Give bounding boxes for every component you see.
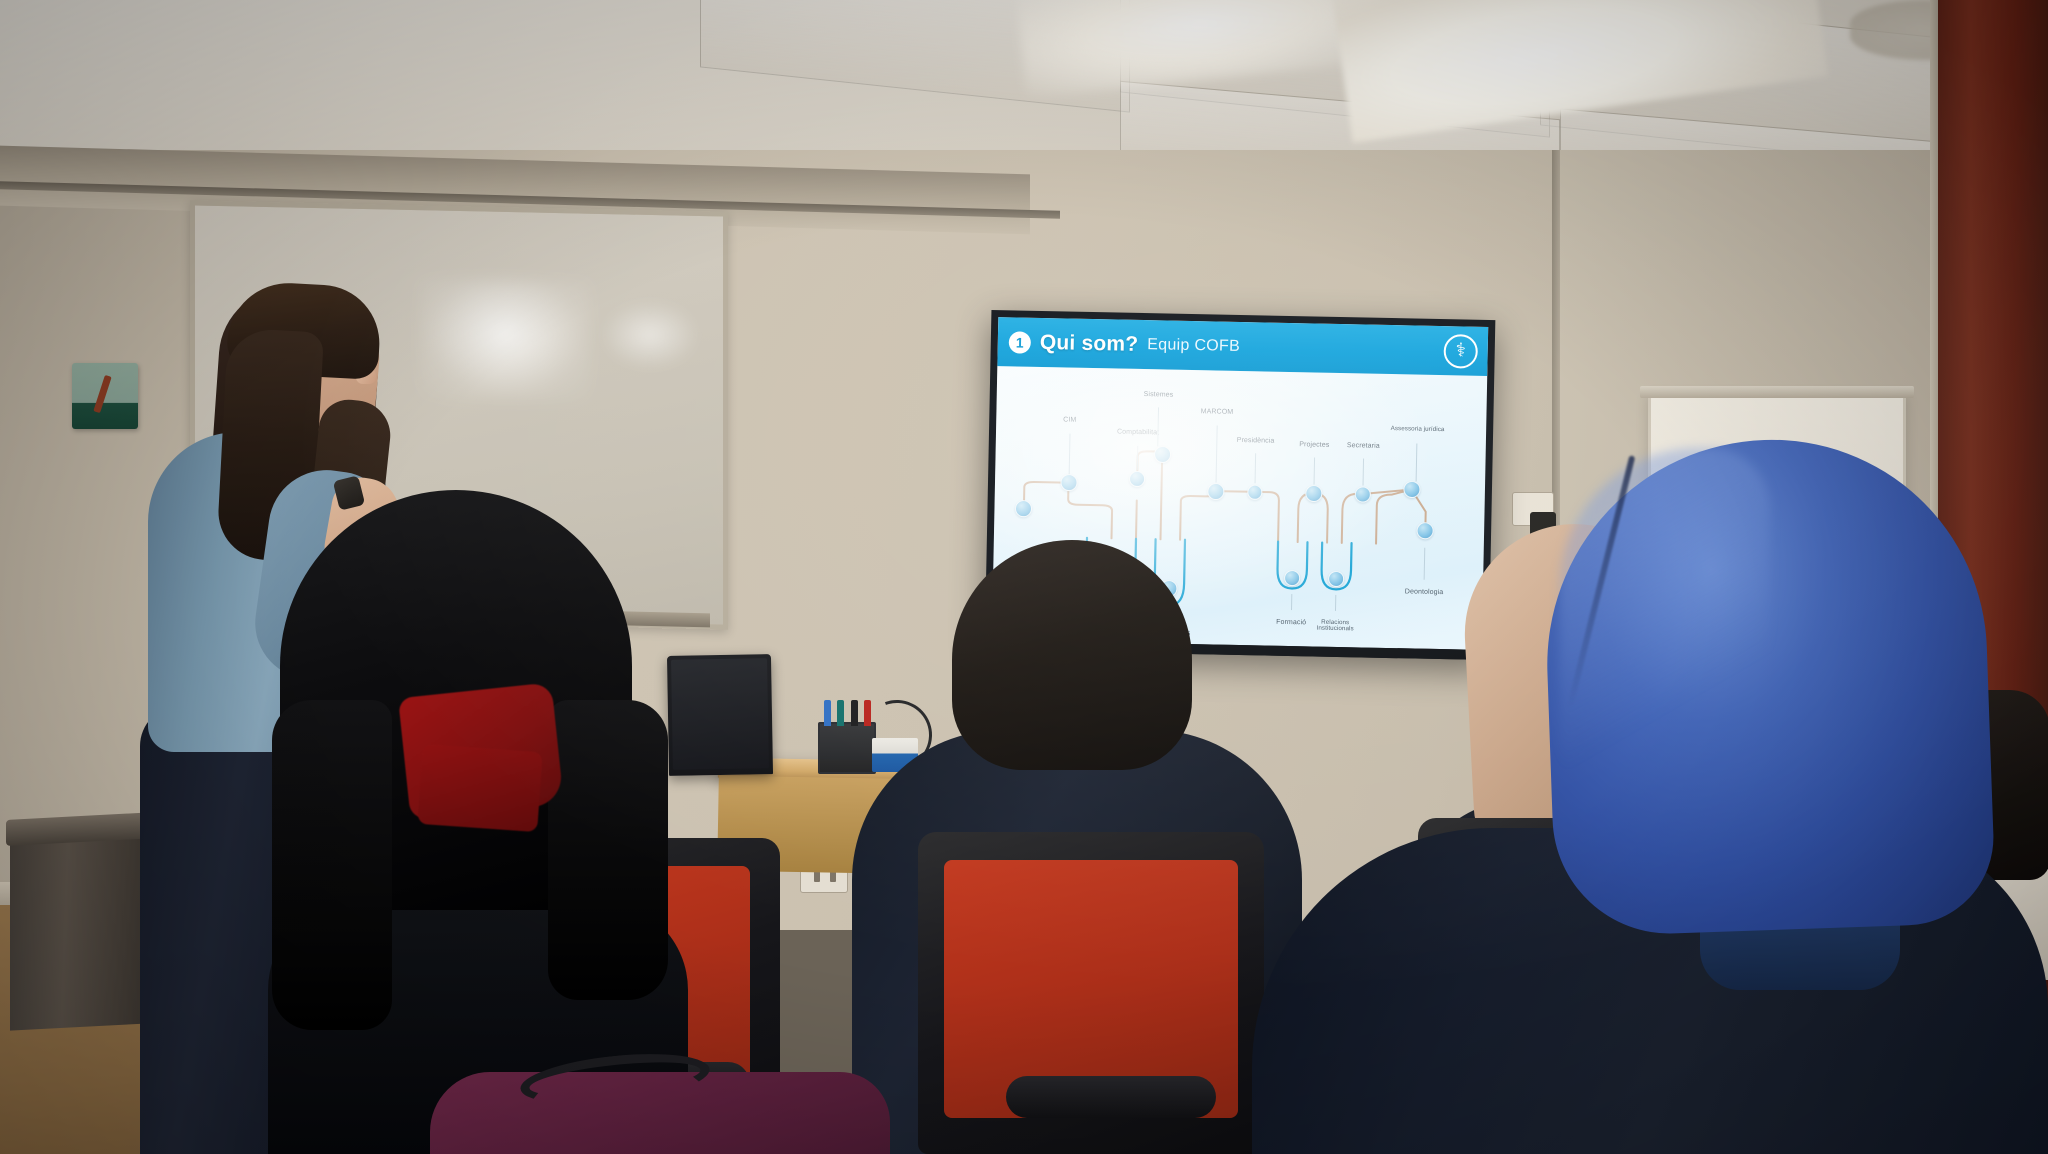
cofb-pharmacy-logo-icon: ⚕	[1443, 334, 1478, 369]
attendee-center-hair	[952, 540, 1192, 770]
metro-node-label: Formació	[1276, 618, 1306, 626]
metro-node-label: Projectes	[1299, 441, 1329, 449]
laptop-screen	[671, 658, 769, 770]
whiteboard-glare	[420, 278, 590, 402]
room-photo-scene: 1 Qui som? Equip COFB ⚕ CIMA/RComptabili…	[0, 0, 2048, 1154]
attendee-front-left-hair-strand-right	[548, 700, 668, 1000]
attendee-front-left-hair-strand-left	[272, 700, 392, 1030]
metro-node-label: Presidència	[1237, 437, 1275, 445]
wall-plaque-sign	[72, 363, 138, 429]
metro-node-label: Sistemes	[1144, 391, 1174, 399]
metro-line	[1160, 457, 1162, 539]
marker-pen	[837, 700, 844, 726]
metro-node-label: Deontologia	[1405, 588, 1444, 596]
metro-line	[1254, 492, 1279, 542]
flipchart-clamp	[1640, 386, 1914, 398]
attendee-front-left-red-garment-lower	[417, 744, 542, 832]
metro-line	[1136, 500, 1137, 538]
waste-bin	[10, 818, 150, 1030]
marker-pen	[864, 700, 871, 726]
attendee-blue-headscarf-fold	[1560, 448, 1770, 828]
marker-pen	[851, 700, 858, 726]
metro-node-label: MARCOM	[1201, 409, 1234, 417]
laptop[interactable]	[667, 654, 773, 776]
slide-section-badge: 1	[1009, 331, 1031, 353]
whiteboard-glare-secondary	[600, 300, 700, 370]
marker-pen	[824, 700, 831, 726]
slide-title: Qui som?	[1040, 330, 1139, 356]
metro-line	[1376, 489, 1411, 544]
metro-node-label: Secretaria	[1347, 442, 1380, 450]
metro-node-label: Relacions Institucionals	[1308, 619, 1362, 634]
pen-holder	[818, 722, 876, 774]
metro-node-label: Assessoria jurídica	[1391, 426, 1445, 434]
metro-node-label: CIM	[1063, 417, 1076, 425]
slide-subtitle: Equip COFB	[1147, 336, 1240, 356]
metro-node-label: Comptabilitat	[1117, 429, 1159, 438]
